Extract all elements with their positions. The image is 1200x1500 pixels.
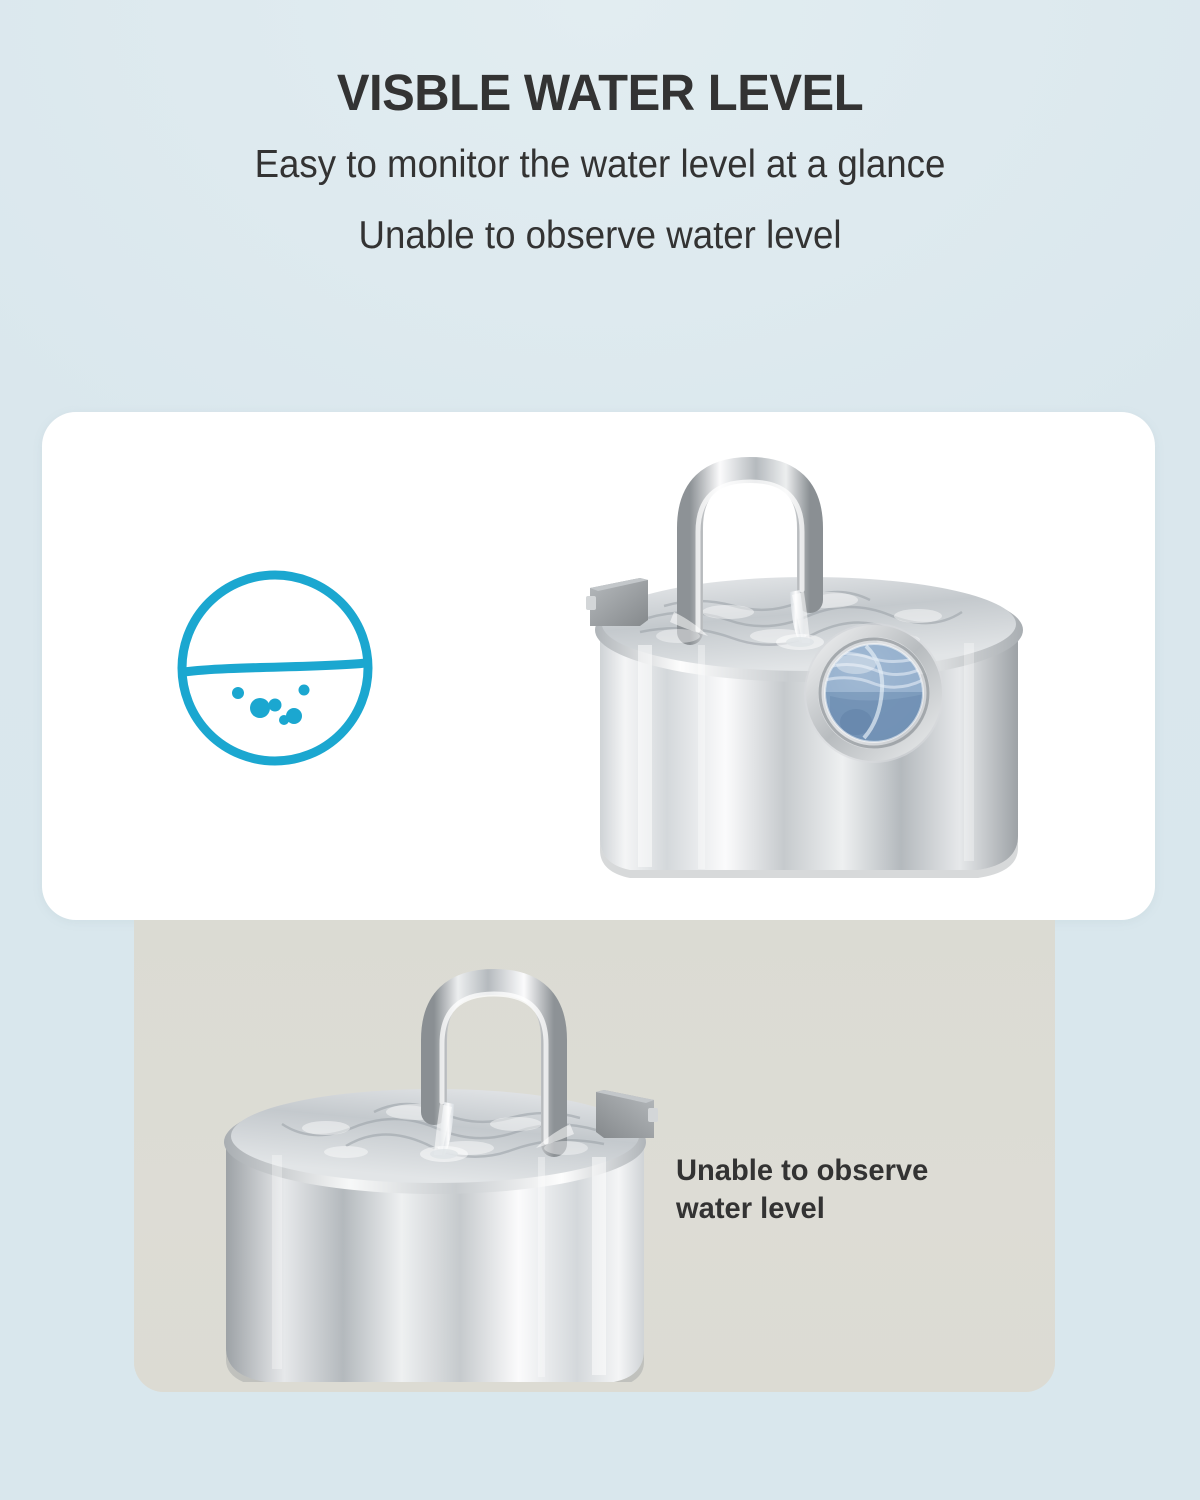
water-level-circle-icon: [170, 563, 380, 773]
bad-caption-line-1: Unable to observe: [676, 1152, 1025, 1190]
subtitle-line-2: Unable to observe water level: [36, 193, 1164, 264]
bad-caption-line-2: water level: [676, 1190, 1025, 1228]
subtitle-line-1: Easy to monitor the water level at a gla…: [36, 122, 1164, 193]
fountain-without-window-image: [186, 958, 666, 1382]
header: VISBLE WATER LEVEL Easy to monitor the w…: [0, 0, 1200, 264]
bad-product-caption: Unable to observe water level: [676, 1152, 1025, 1228]
fountain-with-window-image: [578, 440, 1064, 892]
page-title: VISBLE WATER LEVEL: [24, 0, 1176, 122]
